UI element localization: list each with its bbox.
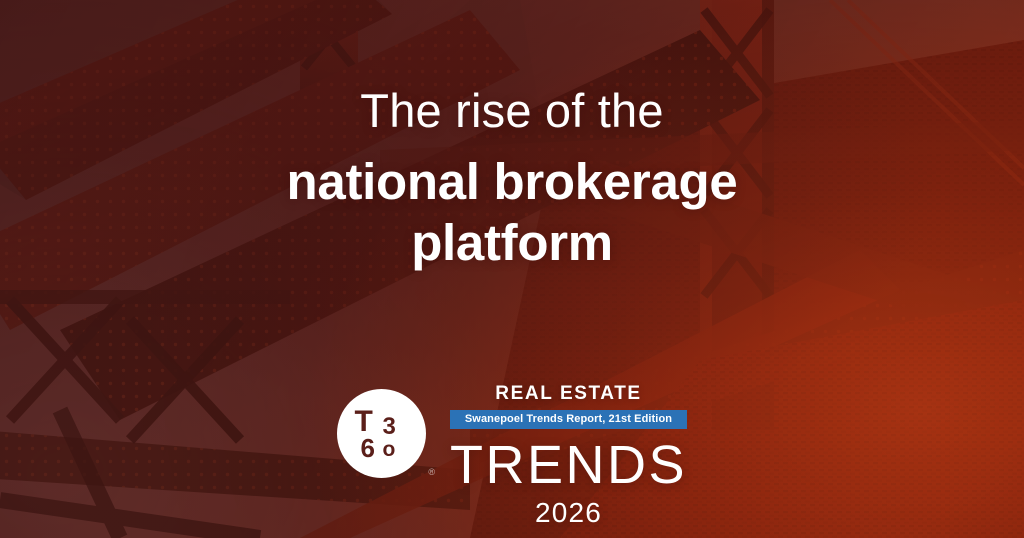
registered-trademark-icon: ® — [428, 468, 435, 477]
t360-glyph-3: 3 — [382, 415, 395, 439]
promo-graphic: The rise of the national brokerage platf… — [0, 0, 1024, 538]
lockup-text-column: REAL ESTATE Swanepoel Trends Report, 21s… — [450, 382, 687, 527]
year-label: 2026 — [535, 499, 602, 527]
headline-line-2: national brokerage — [0, 151, 1024, 212]
t360-glyph-0: o — [382, 439, 395, 460]
t360-glyph-t: T — [354, 407, 371, 437]
headline-line-1: The rise of the — [0, 84, 1024, 139]
edition-banner: Swanepoel Trends Report, 21st Edition — [450, 410, 687, 429]
t360-logo-circle: T 3 6 o — [337, 389, 426, 478]
t360-logo-letters: T 3 6 o — [353, 405, 409, 463]
wordmark-trends: TRENDS — [450, 438, 687, 492]
brand-lockup: T 3 6 o ® REAL ESTATE Swanepoel Trends R… — [337, 382, 687, 527]
t360-logo: T 3 6 o ® — [337, 382, 426, 478]
t360-glyph-6: 6 — [360, 435, 374, 461]
eyebrow-real-estate: REAL ESTATE — [495, 384, 641, 403]
headline: The rise of the national brokerage platf… — [0, 84, 1024, 273]
headline-line-3: platform — [0, 212, 1024, 273]
